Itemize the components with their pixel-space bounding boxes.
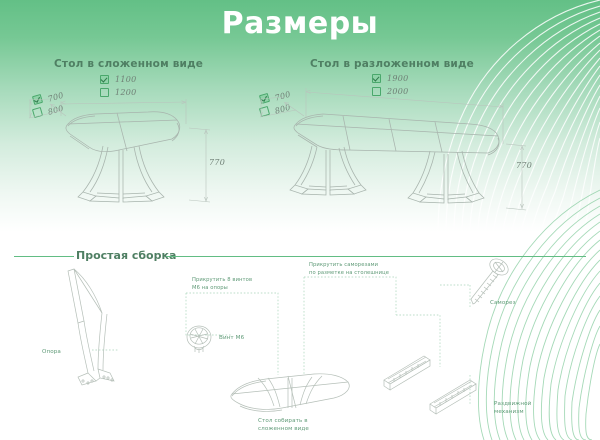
folded-table-drawing [20,66,250,214]
part-bolt-m6-icon [182,322,216,356]
poster-page: Размеры Стол в сложенном виде 1100 1200 … [0,0,600,440]
part-label-assemble-folded: Стол собирать в сложенном виде [258,417,348,433]
part-label-slide-mechanism: Раздвижной механизм [494,400,574,416]
part-label-self-tapping-screw: Саморез [490,299,516,307]
part-leg-drawing [38,265,148,395]
page-title: Размеры [0,6,600,41]
assembly-note-screws-to-top: Прикрутить саморезами по разметке на сто… [309,262,419,277]
part-label-leg: Опора [42,348,61,356]
unfolded-table-drawing [248,66,548,214]
part-slide-mechanism-drawing [380,352,490,414]
assembly-note-screws-to-legs: Прикрутить 8 винтов М6 на опоры [192,277,282,292]
part-label-bolt-m6: Винт М6 [219,334,244,342]
assembled-table-drawing [222,358,352,420]
